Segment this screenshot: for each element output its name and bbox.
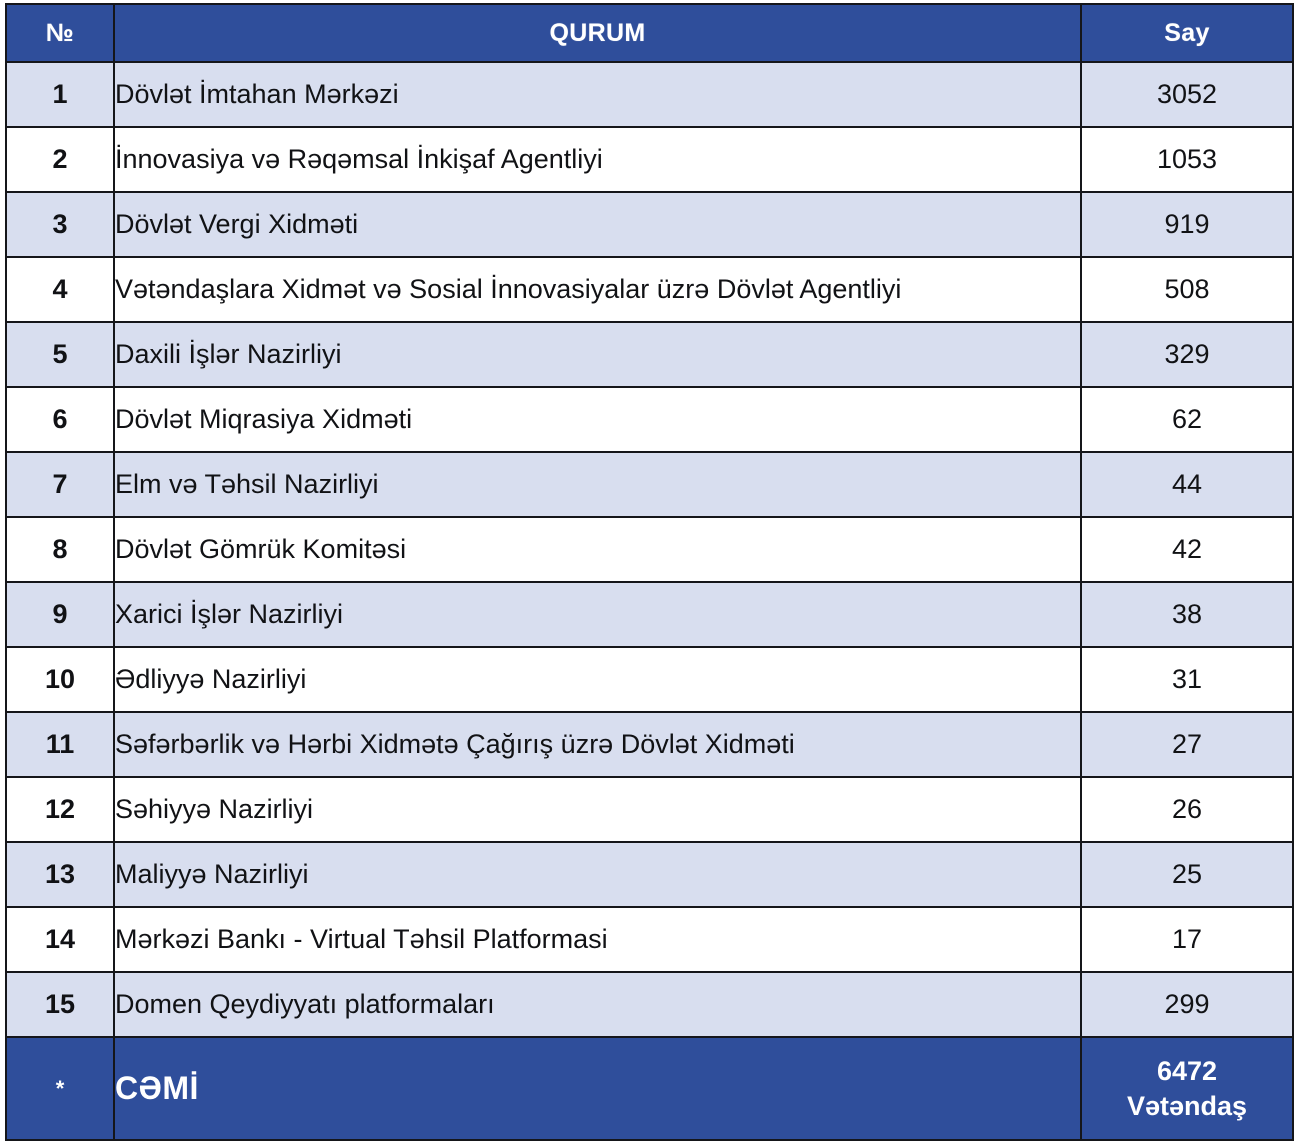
- cell-count: 25: [1081, 842, 1293, 907]
- cell-organization-name: Mərkəzi Bankı - Virtual Təhsil Platforma…: [114, 907, 1081, 972]
- cell-count: 26: [1081, 777, 1293, 842]
- total-count-unit: Vətəndaş: [1082, 1089, 1292, 1124]
- column-header-say[interactable]: Say: [1081, 4, 1293, 62]
- cell-organization-name: Səhiyyə Nazirliyi: [114, 777, 1081, 842]
- cell-count: 329: [1081, 322, 1293, 387]
- cell-organization-name: Vətəndaşlara Xidmət və Sosial İnnovasiya…: [114, 257, 1081, 322]
- cell-count: 508: [1081, 257, 1293, 322]
- cell-row-number: 10: [6, 647, 114, 712]
- table-row[interactable]: 4 Vətəndaşlara Xidmət və Sosial İnnovasi…: [6, 257, 1293, 322]
- cell-organization-name: Səfərbərlik və Hərbi Xidmətə Çağırış üzr…: [114, 712, 1081, 777]
- cell-row-number: 1: [6, 62, 114, 127]
- organizations-table: № QURUM Say 1 Dövlət İmtahan Mərkəzi 305…: [5, 3, 1294, 1141]
- cell-count: 31: [1081, 647, 1293, 712]
- cell-count: 38: [1081, 582, 1293, 647]
- table-row[interactable]: 13 Maliyyə Nazirliyi 25: [6, 842, 1293, 907]
- cell-count: 27: [1081, 712, 1293, 777]
- cell-row-number: 2: [6, 127, 114, 192]
- table-total-row[interactable]: * CƏMİ 6472 Vətəndaş: [6, 1037, 1293, 1140]
- table-row[interactable]: 12 Səhiyyə Nazirliyi 26: [6, 777, 1293, 842]
- cell-row-number: 9: [6, 582, 114, 647]
- table-row[interactable]: 7 Elm və Təhsil Nazirliyi 44: [6, 452, 1293, 517]
- cell-count: 919: [1081, 192, 1293, 257]
- cell-organization-name: Ədliyyə Nazirliyi: [114, 647, 1081, 712]
- cell-organization-name: Domen Qeydiyyatı platformaları: [114, 972, 1081, 1037]
- cell-organization-name: Dövlət Gömrük Komitəsi: [114, 517, 1081, 582]
- cell-organization-name: Xarici İşlər Nazirliyi: [114, 582, 1081, 647]
- table-row[interactable]: 9 Xarici İşlər Nazirliyi 38: [6, 582, 1293, 647]
- cell-organization-name: Elm və Təhsil Nazirliyi: [114, 452, 1081, 517]
- table-row[interactable]: 5 Daxili İşlər Nazirliyi 329: [6, 322, 1293, 387]
- table-header: № QURUM Say: [6, 4, 1293, 62]
- cell-row-number: 4: [6, 257, 114, 322]
- table-row[interactable]: 10 Ədliyyə Nazirliyi 31: [6, 647, 1293, 712]
- cell-organization-name: Daxili İşlər Nazirliyi: [114, 322, 1081, 387]
- table-row[interactable]: 11 Səfərbərlik və Hərbi Xidmətə Çağırış …: [6, 712, 1293, 777]
- cell-count: 1053: [1081, 127, 1293, 192]
- cell-row-number: 13: [6, 842, 114, 907]
- cell-count: 299: [1081, 972, 1293, 1037]
- cell-organization-name: İnnovasiya və Rəqəmsal İnkişaf Agentliyi: [114, 127, 1081, 192]
- cell-organization-name: Maliyyə Nazirliyi: [114, 842, 1081, 907]
- cell-row-number: 15: [6, 972, 114, 1037]
- column-header-qurum[interactable]: QURUM: [114, 4, 1081, 62]
- column-header-no[interactable]: №: [6, 4, 114, 62]
- cell-row-number: 11: [6, 712, 114, 777]
- cell-row-number: 6: [6, 387, 114, 452]
- cell-row-number: 7: [6, 452, 114, 517]
- table-row[interactable]: 8 Dövlət Gömrük Komitəsi 42: [6, 517, 1293, 582]
- cell-organization-name: Dövlət İmtahan Mərkəzi: [114, 62, 1081, 127]
- table-row[interactable]: 6 Dövlət Miqrasiya Xidməti 62: [6, 387, 1293, 452]
- cell-count: 3052: [1081, 62, 1293, 127]
- total-row-count: 6472 Vətəndaş: [1081, 1037, 1293, 1140]
- total-row-marker: *: [6, 1037, 114, 1140]
- cell-row-number: 5: [6, 322, 114, 387]
- cell-count: 62: [1081, 387, 1293, 452]
- cell-row-number: 8: [6, 517, 114, 582]
- total-count-value: 6472: [1082, 1054, 1292, 1089]
- cell-row-number: 3: [6, 192, 114, 257]
- cell-count: 44: [1081, 452, 1293, 517]
- cell-organization-name: Dövlət Miqrasiya Xidməti: [114, 387, 1081, 452]
- table-row[interactable]: 15 Domen Qeydiyyatı platformaları 299: [6, 972, 1293, 1037]
- cell-row-number: 14: [6, 907, 114, 972]
- total-row-label: CƏMİ: [114, 1037, 1081, 1140]
- table-body: 1 Dövlət İmtahan Mərkəzi 3052 2 İnnovasi…: [6, 62, 1293, 1140]
- cell-row-number: 12: [6, 777, 114, 842]
- spreadsheet-canvas: № QURUM Say 1 Dövlət İmtahan Mərkəzi 305…: [0, 0, 1300, 1143]
- cell-count: 42: [1081, 517, 1293, 582]
- table-row[interactable]: 14 Mərkəzi Bankı - Virtual Təhsil Platfo…: [6, 907, 1293, 972]
- table-row[interactable]: 2 İnnovasiya və Rəqəmsal İnkişaf Agentli…: [6, 127, 1293, 192]
- table-header-row: № QURUM Say: [6, 4, 1293, 62]
- table-row[interactable]: 3 Dövlət Vergi Xidməti 919: [6, 192, 1293, 257]
- table-row[interactable]: 1 Dövlət İmtahan Mərkəzi 3052: [6, 62, 1293, 127]
- cell-count: 17: [1081, 907, 1293, 972]
- cell-organization-name: Dövlət Vergi Xidməti: [114, 192, 1081, 257]
